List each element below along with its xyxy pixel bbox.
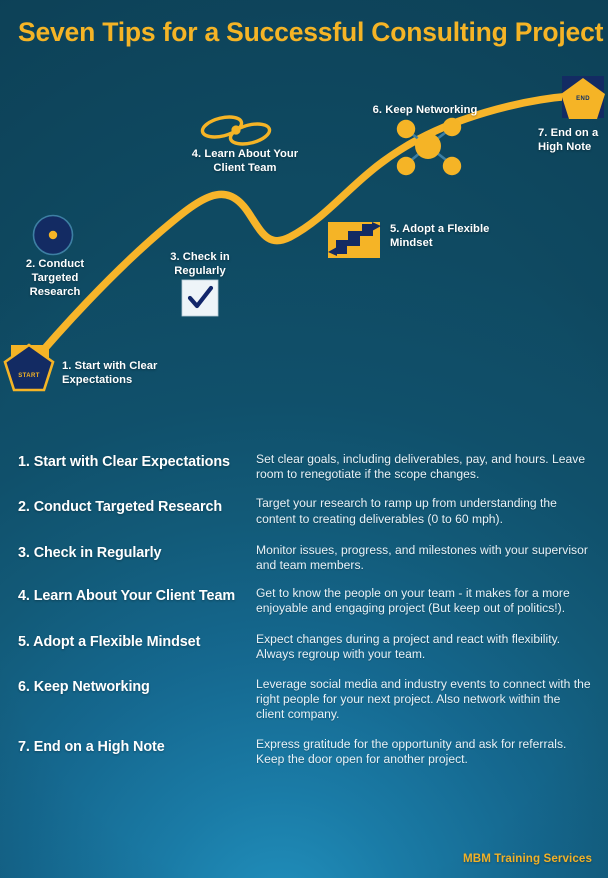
tip-row: 3. Check in RegularlyMonitor issues, pro…	[0, 543, 608, 573]
diagram-label-step-5: 5. Adopt a Flexible Mindset	[390, 222, 490, 250]
tip-description: Expect changes during a project and reac…	[256, 632, 592, 662]
journey-path	[28, 96, 572, 368]
page-title: Seven Tips for a Successful Consulting P…	[18, 17, 603, 48]
tip-row: 4. Learn About Your Client TeamGet to kn…	[0, 586, 608, 616]
tip-title: 1. Start with Clear Expectations	[18, 452, 256, 471]
tip-title: 5. Adopt a Flexible Mindset	[18, 632, 256, 651]
diagram-label-step-4: 4. Learn About Your Client Team	[185, 147, 305, 175]
end-badge-label: END	[556, 96, 608, 102]
target-circle-icon	[34, 216, 73, 255]
tip-description: Leverage social media and industry event…	[256, 677, 592, 723]
tip-title: 3. Check in Regularly	[18, 543, 256, 562]
diagram-label-step-6: 6. Keep Networking	[360, 103, 490, 117]
tip-row: 1. Start with Clear ExpectationsSet clea…	[0, 452, 608, 482]
footer-brand: MBM Training Services	[463, 852, 592, 865]
zigzag-arrows-box-icon	[328, 222, 381, 258]
tip-description: Target your research to ramp up from und…	[256, 496, 592, 526]
journey-diagram	[0, 0, 608, 420]
tip-title: 4. Learn About Your Client Team	[18, 586, 256, 605]
tip-description: Express gratitude for the opportunity an…	[256, 737, 592, 767]
diagram-label-step-3: 3. Check in Regularly	[160, 250, 240, 278]
tip-description: Get to know the people on your team - it…	[256, 586, 592, 616]
interlocking-rings-icon	[200, 113, 271, 147]
tip-title: 7. End on a High Note	[18, 737, 256, 756]
tip-row: 7. End on a High NoteExpress gratitude f…	[0, 737, 608, 767]
tip-row: 5. Adopt a Flexible MindsetExpect change…	[0, 632, 608, 662]
tip-title: 2. Conduct Targeted Research	[18, 496, 256, 516]
tip-row: 2. Conduct Targeted ResearchTarget your …	[0, 496, 608, 526]
diagram-label-step-1: 1. Start with Clear Expectations	[62, 359, 192, 387]
checkmark-box-icon	[182, 280, 218, 316]
start-pentagon-badge-icon	[5, 345, 53, 390]
diagram-label-step-2: 2. Conduct Targeted Research	[10, 257, 100, 299]
start-badge-label: START	[0, 373, 58, 379]
tip-title: 6. Keep Networking	[18, 677, 256, 696]
diagram-label-step-7: 7. End on a High Note	[538, 126, 604, 154]
tips-list: 1. Start with Clear ExpectationsSet clea…	[0, 452, 608, 767]
tip-description: Set clear goals, including deliverables,…	[256, 452, 592, 482]
tip-row: 6. Keep NetworkingLeverage social media …	[0, 677, 608, 723]
tip-description: Monitor issues, progress, and milestones…	[256, 543, 592, 573]
